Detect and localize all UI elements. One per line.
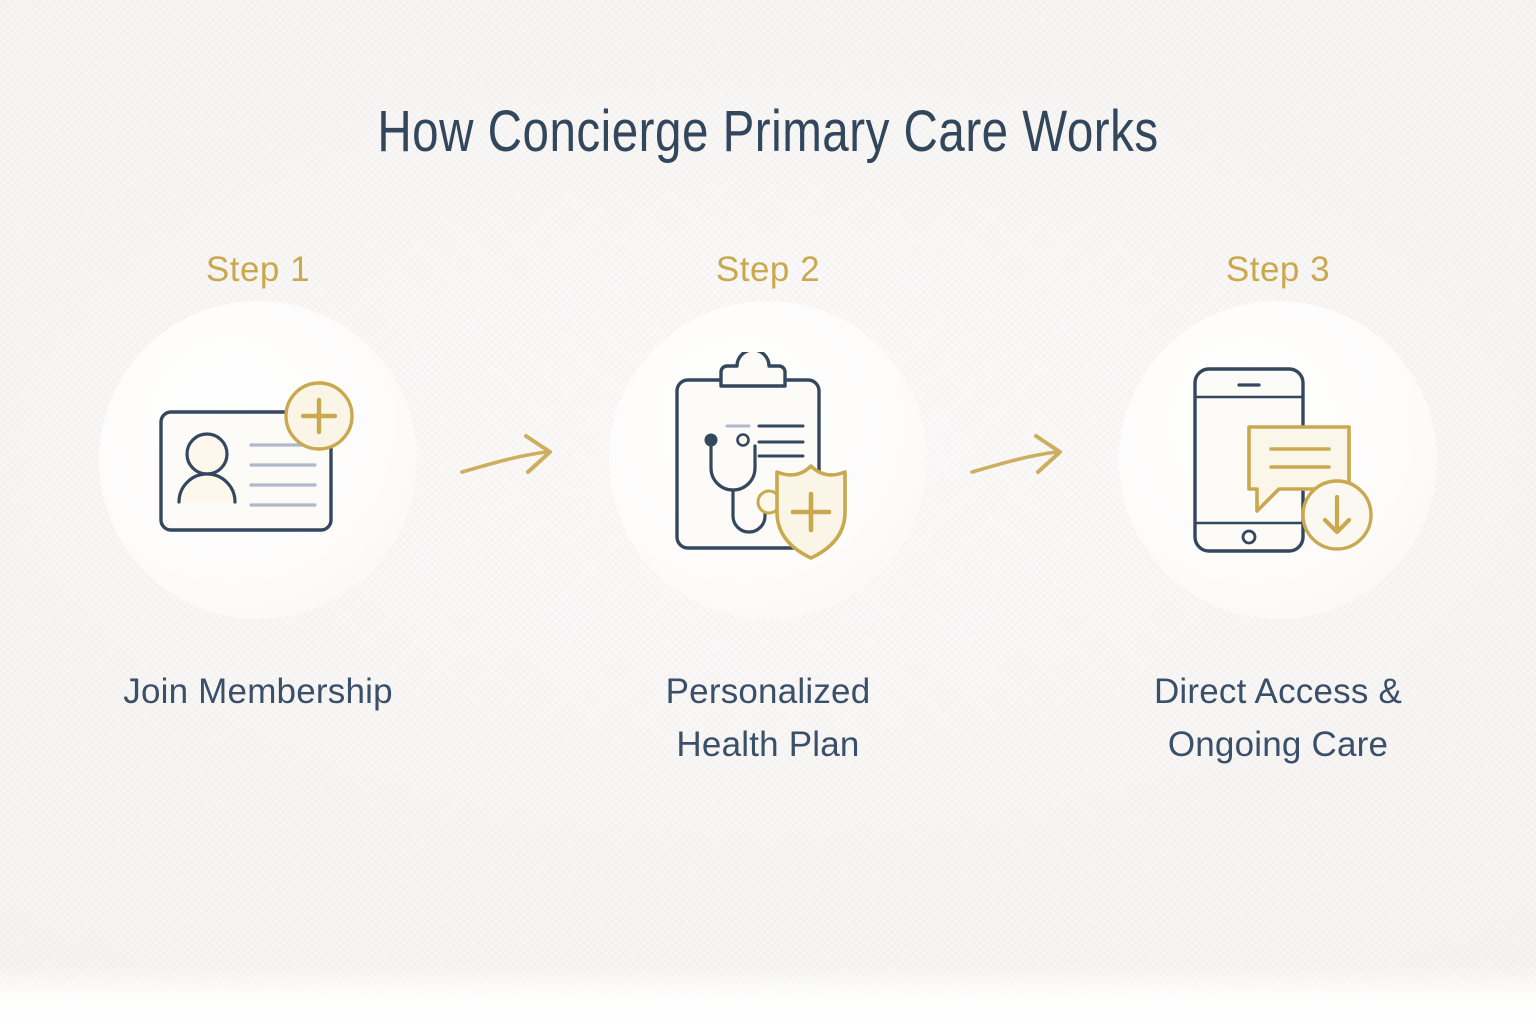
step-icon-circle-3 <box>1119 301 1437 619</box>
membership-card-icon <box>143 370 373 550</box>
arrow-right-icon <box>968 430 1078 490</box>
page-title: How Concierge Primary Care Works <box>138 98 1398 165</box>
clipboard-stethoscope-shield-icon <box>655 352 881 568</box>
step-icon-circle-2 <box>609 301 927 619</box>
infographic-canvas: How Concierge Primary Care Works Step 1 <box>0 0 1536 1024</box>
step-caption-3: Direct Access & Ongoing Care <box>1154 665 1402 771</box>
step-caption-2-line-1: Personalized <box>666 665 871 718</box>
step-label-3: Step 3 <box>1226 252 1330 287</box>
arrow-right-icon <box>458 430 568 490</box>
step-caption-3-line-2: Ongoing Care <box>1154 718 1402 771</box>
step-card-1: Step 1 <box>68 252 448 718</box>
step-card-3: Step 3 <box>1088 252 1468 771</box>
step-label-2: Step 2 <box>716 252 820 287</box>
smartphone-chat-download-icon <box>1167 357 1389 563</box>
step-caption-1: Join Membership <box>123 665 393 718</box>
step-label-1: Step 1 <box>206 252 310 287</box>
step-caption-1-line-1: Join Membership <box>123 665 393 718</box>
step-icon-circle-1 <box>99 301 417 619</box>
step-caption-3-line-1: Direct Access & <box>1154 665 1402 718</box>
step-caption-2-line-2: Health Plan <box>666 718 871 771</box>
arrow-step1-to-step2 <box>448 301 578 619</box>
step-card-2: Step 2 <box>578 252 958 771</box>
steps-row: Step 1 <box>0 252 1536 771</box>
arrow-step2-to-step3 <box>958 301 1088 619</box>
step-caption-2: Personalized Health Plan <box>666 665 871 771</box>
